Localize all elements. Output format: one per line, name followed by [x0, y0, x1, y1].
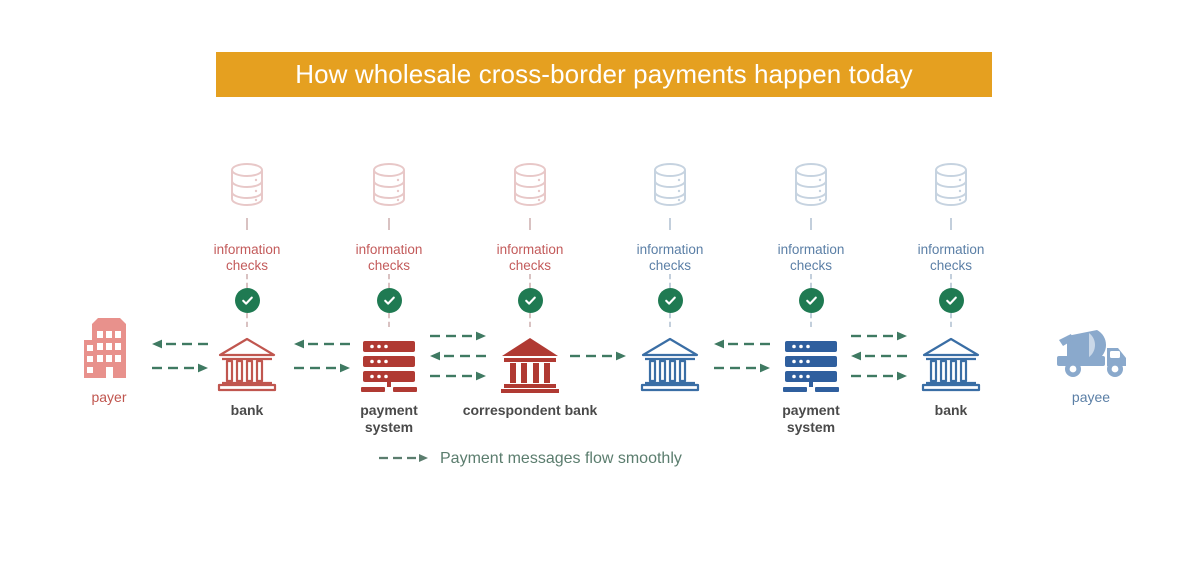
check-badge-icon — [235, 288, 260, 313]
node-label-payment-system-left: payment system — [314, 402, 464, 436]
bank-icon — [876, 327, 1026, 393]
legend: Payment messages flow smoothly — [378, 450, 682, 468]
node-bank-right[interactable]: information checks bank — [876, 160, 1026, 419]
dash-connector-top — [669, 218, 672, 230]
dash-connector-top — [529, 218, 532, 230]
payee-spacer — [1016, 160, 1166, 314]
dash-connector-top — [388, 218, 391, 230]
dash-connector-top — [950, 218, 953, 230]
dash-connector-mid — [388, 274, 391, 288]
node-payee[interactable]: payee — [1016, 160, 1166, 406]
cement-mixer-truck-icon — [1016, 314, 1166, 380]
dash-connector-top — [810, 218, 813, 230]
legend-label: Payment messages flow smoothly — [440, 450, 682, 468]
check-badge-icon — [799, 288, 824, 313]
database-icon — [876, 160, 1026, 218]
dash-connector-mid — [669, 274, 672, 288]
check-badge-icon — [377, 288, 402, 313]
database-icon — [314, 160, 464, 218]
dash-connector-bottom — [810, 313, 813, 327]
info-checks-label: information checks — [172, 242, 322, 274]
database-icon — [455, 160, 605, 218]
dash-connector-mid — [950, 274, 953, 288]
node-label-bank-left: bank — [172, 402, 322, 419]
dash-connector-bottom — [388, 313, 391, 327]
node-label-payment-system-right: payment system — [736, 402, 886, 436]
database-icon — [172, 160, 322, 218]
node-label-bank-right: bank — [876, 402, 1026, 419]
dash-connector-bottom — [950, 313, 953, 327]
info-checks-label: information checks — [595, 242, 745, 274]
info-checks-label: information checks — [455, 242, 605, 274]
diagram-canvas: How wholesale cross-border payments happ… — [0, 0, 1200, 587]
database-icon — [736, 160, 886, 218]
page-title: How wholesale cross-border payments happ… — [295, 59, 913, 90]
database-icon — [595, 160, 745, 218]
info-checks-label: information checks — [314, 242, 464, 274]
dash-connector-mid — [246, 274, 249, 288]
legend-arrow-icon — [378, 450, 430, 468]
node-bank-left[interactable]: information checks bank — [172, 160, 322, 419]
check-badge-icon — [939, 288, 964, 313]
check-badge-icon — [658, 288, 683, 313]
node-label-correspondent-bank: correspondent bank — [455, 402, 605, 419]
dash-connector-bottom — [669, 313, 672, 327]
node-label-payer: payer — [34, 389, 184, 406]
dash-connector-mid — [529, 274, 532, 288]
info-checks-label: information checks — [736, 242, 886, 274]
node-label-payee: payee — [1016, 389, 1166, 406]
node-correspondent-bank[interactable]: information checks correspondent bank — [455, 160, 605, 419]
dash-connector-mid — [810, 274, 813, 288]
payer-spacer — [34, 160, 184, 314]
info-checks-label: information checks — [876, 242, 1026, 274]
title-banner: How wholesale cross-border payments happ… — [216, 52, 992, 97]
check-badge-icon — [518, 288, 543, 313]
dash-connector-bottom — [529, 313, 532, 327]
node-payment-system-left[interactable]: information checks — [314, 160, 464, 436]
dash-connector-bottom — [246, 313, 249, 327]
dash-connector-top — [246, 218, 249, 230]
node-payment-system-right[interactable]: information checks — [736, 160, 886, 436]
